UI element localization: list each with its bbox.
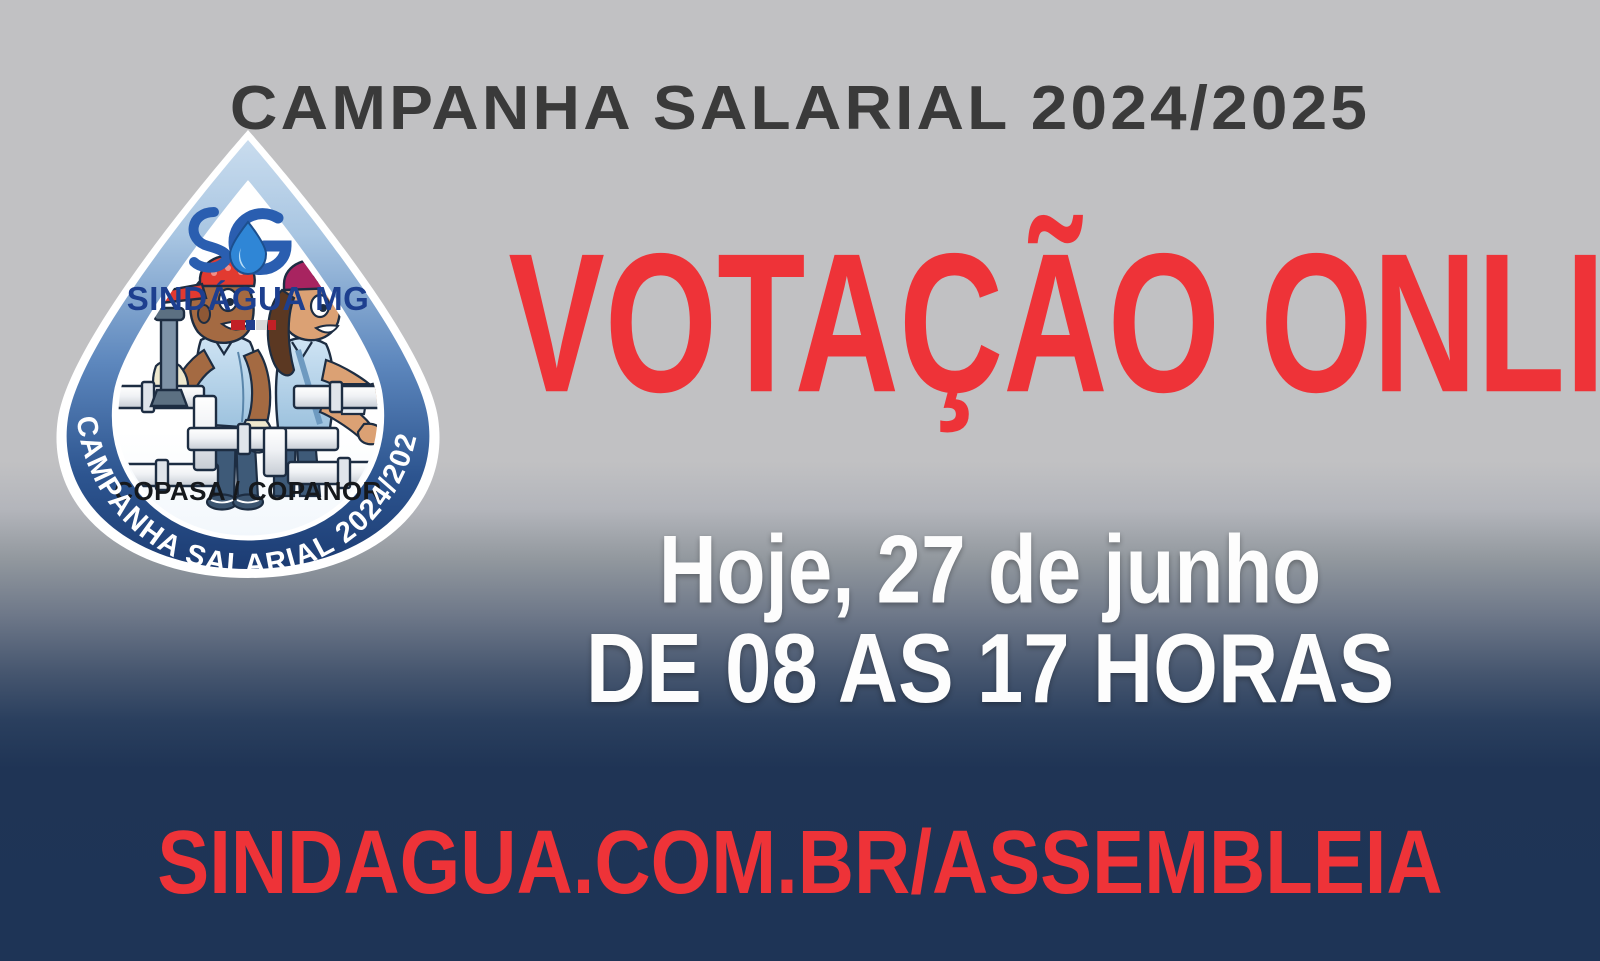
logo-affiliate-mark: [231, 320, 276, 330]
voting-url[interactable]: SINDAGUA.COM.BR/ASSEMBLEIA: [40, 818, 1560, 908]
logo-brand-text: SINDÁGUA MG: [127, 280, 370, 317]
sindagua-logo: SINDÁGUA MG COPASA / COPANOR CAMPANHA SA…: [38, 128, 458, 580]
poster-canvas: CAMPANHA SALARIAL 2024/2025: [0, 0, 1600, 961]
hero-headline-votacao-online: VOTAÇÃO ONLINE: [508, 232, 1471, 414]
logo-center-text: COPASA / COPANOR: [114, 476, 381, 506]
event-date-line: Hoje, 27 de junho: [469, 522, 1511, 618]
event-time-line: DE 08 AS 17 HORAS: [447, 620, 1533, 718]
